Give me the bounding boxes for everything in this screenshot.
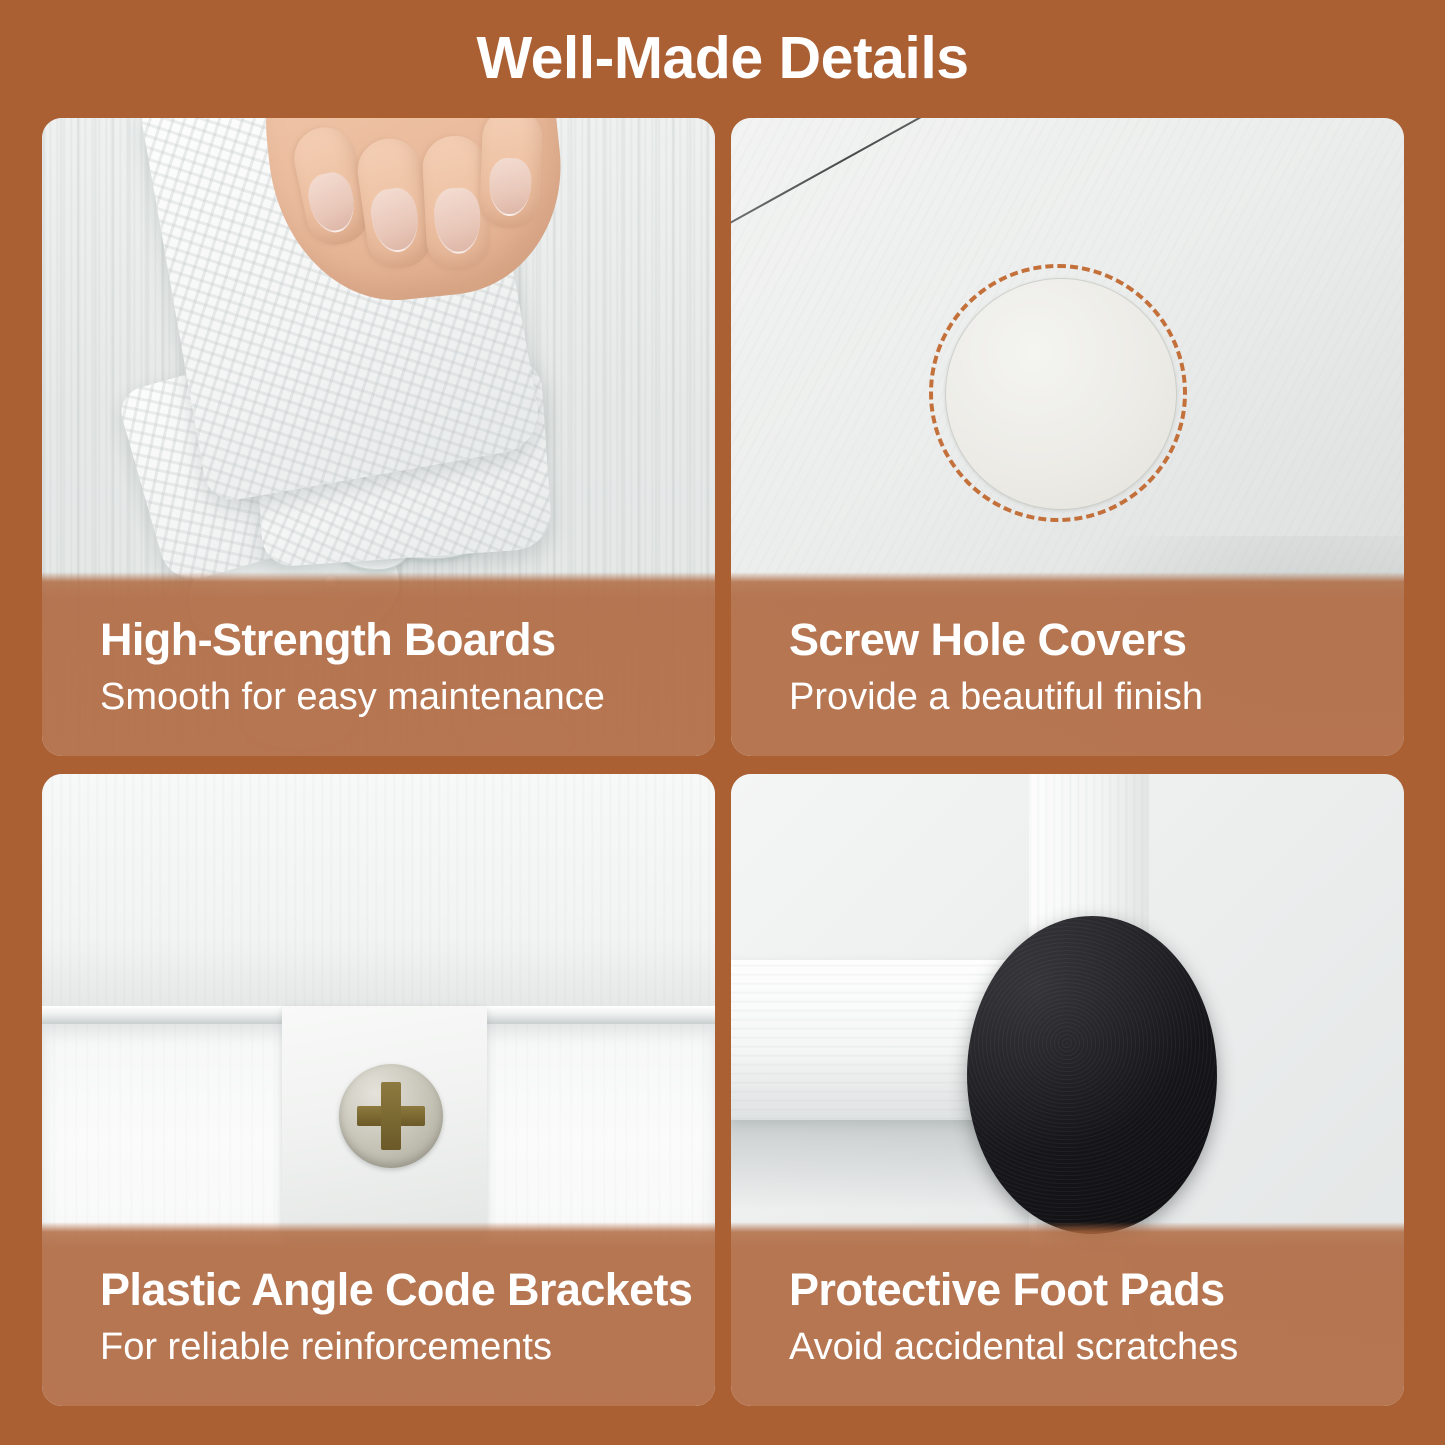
caption-subtitle: Provide a beautiful finish: [789, 672, 1404, 722]
caption-subtitle: For reliable reinforcements: [100, 1322, 715, 1372]
caption-subtitle: Avoid accidental scratches: [789, 1322, 1404, 1372]
infographic-page: Well-Made Details: [0, 0, 1445, 1445]
caption-title: Protective Foot Pads: [789, 1262, 1404, 1318]
caption-title: Screw Hole Covers: [789, 612, 1404, 668]
caption-screw-hole-covers: Screw Hole Covers Provide a beautiful fi…: [731, 572, 1404, 756]
page-title: Well-Made Details: [0, 22, 1445, 94]
feature-card-plastic-angle-code-brackets[interactable]: Plastic Angle Code Brackets For reliable…: [42, 774, 715, 1406]
caption-subtitle: Smooth for easy maintenance: [100, 672, 715, 722]
feature-card-high-strength-boards[interactable]: High-Strength Boards Smooth for easy mai…: [42, 118, 715, 756]
caption-title: Plastic Angle Code Brackets: [100, 1262, 715, 1318]
caption-title: High-Strength Boards: [100, 612, 715, 668]
phillips-screw: [339, 1064, 443, 1168]
caption-plastic-angle-code-brackets: Plastic Angle Code Brackets For reliable…: [42, 1222, 715, 1406]
dashed-highlight-circle-annotation: [929, 264, 1187, 522]
protective-foot-pad: [967, 916, 1217, 1234]
caption-high-strength-boards: High-Strength Boards Smooth for easy mai…: [42, 572, 715, 756]
feature-card-screw-hole-covers[interactable]: Screw Hole Covers Provide a beautiful fi…: [731, 118, 1404, 756]
feature-card-grid: High-Strength Boards Smooth for easy mai…: [42, 118, 1404, 1406]
feature-card-protective-foot-pads[interactable]: Protective Foot Pads Avoid accidental sc…: [731, 774, 1404, 1406]
upper-panel: [42, 774, 715, 1006]
screw-cross-slot: [381, 1082, 401, 1150]
caption-protective-foot-pads: Protective Foot Pads Avoid accidental sc…: [731, 1222, 1404, 1406]
